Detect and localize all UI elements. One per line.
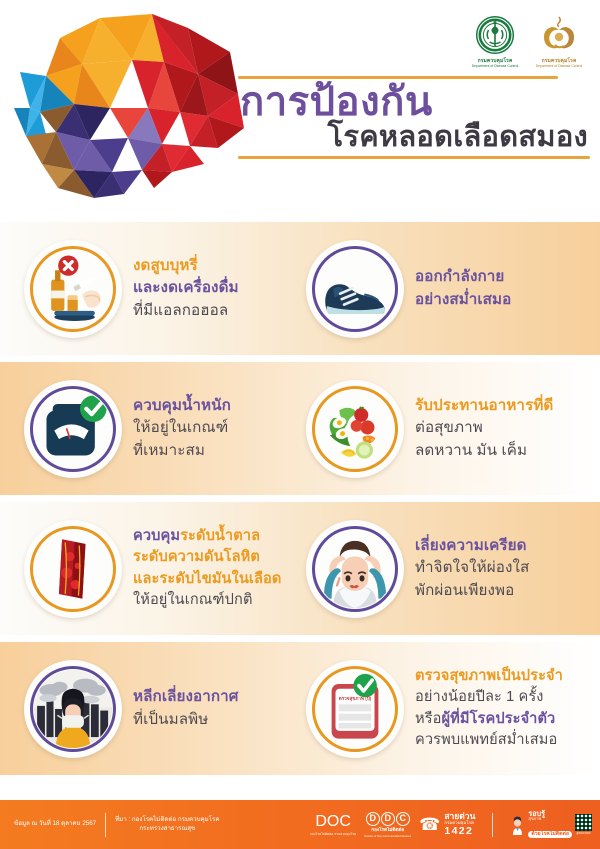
tip-text-line: ที่เป็นมลพิษ	[133, 709, 239, 731]
tip-badge	[24, 660, 122, 758]
page-title: การป้องกัน โรคหลอดเลือดสมอง	[238, 76, 590, 159]
ddc-caption-en: Division of Non Communicable Diseases	[364, 835, 411, 838]
hotline-text: สายด่วน กรมควบคุมโรค 1422	[444, 812, 475, 837]
tip-text-segment: อย่างน้อยปีละ 1 ครั้ง	[415, 689, 544, 705]
ddc-logo: กรมควบคุมโรค Department of Disease Contr…	[532, 12, 586, 69]
tip-text-segment: ทำจิตใจให้ผ่องใส	[415, 559, 529, 576]
tip-text-segment: ควบคุม	[133, 528, 180, 544]
tip-text: หลีกเลี่ยงอากาศที่เป็นมลพิษ	[122, 686, 243, 730]
tip-item[interactable]: ออกกำลังกายอย่างสม่ำเสมอ	[300, 240, 600, 338]
tip-text-segment: ที่มีแอลกอฮอล	[133, 302, 228, 319]
tip-text-line: และงดเครื่องดื่ม	[133, 277, 239, 299]
tip-badge-ring	[312, 526, 398, 612]
tip-text-segment: และงดเครื่องดื่ม	[133, 279, 239, 296]
tip-text-segment: ลดหวาน มัน เค็ม	[415, 442, 527, 459]
tip-badge-ring	[312, 246, 398, 332]
tip-text-line: ออกกำลังกาย	[415, 266, 511, 288]
ddc-footer-logo[interactable]: D D C กองโรคไม่ติดต่อ Division of Non Co…	[364, 812, 411, 838]
ddc-letter-0: D	[366, 812, 380, 826]
tip-text: ควบคุมระดับน้ำตาลระดับความดันโลหิตและระด…	[122, 526, 286, 611]
tip-text: ตรวจสุขภาพเป็นประจำอย่างน้อยปีละ 1 ครั้ง…	[404, 666, 567, 751]
tip-text-line: พักผ่อนเพียงพอ	[415, 580, 529, 602]
hotline-number: 1422	[444, 826, 475, 837]
tip-item[interactable]: เลี่ยงความเครียดทำจิตใจให้ผ่องใสพักผ่อนเ…	[300, 520, 600, 618]
tip-text-line: ที่เหมาะสม	[133, 440, 231, 462]
tip-text-segment: ออกกำลังกาย	[415, 268, 504, 285]
moph-logo: กรมควบคุมโรค Department of Disease Contr…	[468, 12, 522, 69]
tip-text-line: งดสูบบุหรี่	[133, 255, 239, 277]
tip-row: งดสูบบุหรี่และงดเครื่องดื่มที่มีแอลกอฮอล…	[0, 222, 600, 355]
source-line-1: ที่มา : กองโรคไม่ติดต่อ กรมควบคุมโรค	[115, 816, 219, 825]
tip-text-line: ลดหวาน มัน เค็ม	[415, 440, 553, 462]
tip-text-line: ต่อสุขภาพ	[415, 417, 553, 439]
tip-text-line: และระดับไขมันในเลือด	[133, 569, 282, 590]
doc-logo[interactable]: DOC กองโรคไม่ติดต่อ กรมควบคุมโรค	[310, 813, 356, 837]
tip-item[interactable]: ควบคุมน้ำหนักให้อยู่ในเกณฑ์ที่เหมาะสม	[0, 380, 300, 478]
tip-text-line: อย่างสม่ำเสมอ	[415, 289, 511, 311]
tip-text-segment: ที่เป็นมลพิษ	[133, 711, 208, 728]
hotline-block[interactable]: ☎ สายด่วน กรมควบคุมโรค 1422	[419, 812, 475, 837]
qr-code-icon	[575, 814, 592, 831]
tip-badge: ตรวจสุขภาพ (ปี)	[306, 660, 404, 758]
tip-text-line: ควรพบแพทย์สม่ำเสมอ	[415, 730, 563, 751]
tip-text-line: อย่างน้อยปีละ 1 ครั้ง	[415, 687, 563, 708]
tip-row: ควบคุมน้ำหนักให้อยู่ในเกณฑ์ที่เหมาะสม รั…	[0, 362, 600, 495]
tip-text-segment: ต่อสุขภาพ	[415, 419, 483, 436]
tip-text-segment: และระดับไขมันในเลือด	[133, 571, 282, 587]
row-separator	[0, 635, 600, 642]
tip-item[interactable]: ควบคุมระดับน้ำตาลระดับความดันโลหิตและระด…	[0, 520, 300, 618]
data-date: ข้อมูล ณ วันที่ 18 ตุลาคม 2567	[0, 820, 96, 828]
knowledge-sub: สุขภาพ	[528, 817, 572, 821]
doc-logo-sub: กองโรคไม่ติดต่อ กรมควบคุมโรค	[310, 832, 356, 837]
tip-text-line: รับประทานอาหารที่ดี	[415, 395, 553, 417]
tip-text-segment: ผู้ที่มีโรคประจำตัว	[442, 711, 556, 727]
qr-caption: @NCD DDC	[576, 832, 591, 835]
title-rule-bottom	[238, 156, 590, 159]
footer: ข้อมูล ณ วันที่ 18 ตุลาคม 2567 ที่มา : ก…	[0, 800, 600, 849]
footer-divider-2	[492, 813, 493, 837]
source-line-2: กระทรวงสาธารณสุข	[115, 825, 219, 834]
tip-text-segment: ควบคุมน้ำหนัก	[133, 397, 231, 414]
tip-text-line: หรือผู้ที่มีโรคประจำตัว	[415, 709, 563, 730]
tip-text: เลี่ยงความเครียดทำจิตใจให้ผ่องใสพักผ่อนเ…	[404, 535, 533, 601]
tips-list: งดสูบบุหรี่และงดเครื่องดื่มที่มีแอลกอฮอล…	[0, 222, 600, 775]
tip-text-segment: ควรพบแพทย์สม่ำเสมอ	[415, 732, 557, 748]
tip-text-segment: ตรวจสุขภาพเป็นประจำ	[415, 668, 563, 684]
footer-divider-1	[105, 813, 106, 837]
tip-badge-ring	[312, 666, 398, 752]
qr-block: @NCD DDC	[575, 814, 592, 835]
tip-text-line: ระดับความดันโลหิต	[133, 547, 282, 568]
tip-text-segment: ระดับความดันโลหิต	[133, 549, 260, 565]
tip-badge-ring	[312, 386, 398, 472]
phone-icon: ☎	[419, 816, 440, 833]
tip-badge	[306, 380, 404, 478]
nurse-icon	[510, 815, 525, 835]
tip-text-line: ตรวจสุขภาพเป็นประจำ	[415, 666, 563, 687]
ddc-logo-en: Department of Disease Control	[532, 64, 586, 68]
tip-item[interactable]: รับประทานอาหารที่ดีต่อสุขภาพลดหวาน มัน เ…	[300, 380, 600, 478]
row-separator	[0, 495, 600, 502]
tip-text-segment: ให้อยู่ในเกณฑ์ปกติ	[133, 592, 253, 608]
tip-item[interactable]: หลีกเลี่ยงอากาศที่เป็นมลพิษ	[0, 660, 300, 758]
tip-badge	[24, 380, 122, 478]
tip-text-segment: งดสูบบุหรี่	[133, 257, 198, 274]
ddc-letter-circles: D D C	[366, 812, 410, 826]
tip-text: งดสูบบุหรี่และงดเครื่องดื่มที่มีแอลกอฮอล	[122, 255, 243, 321]
org-logos: กรมควบคุมโรค Department of Disease Contr…	[468, 12, 586, 69]
moph-caduceus-emblem-icon	[468, 12, 522, 58]
tip-text-line: ควบคุมน้ำหนัก	[133, 395, 231, 417]
tip-row: หลีกเลี่ยงอากาศที่เป็นมลพิษ ตรวจสุขภาพ (…	[0, 642, 600, 775]
tip-badge	[24, 520, 122, 618]
row-separator	[0, 355, 600, 362]
tip-text-line: ทำจิตใจให้ผ่องใส	[415, 557, 529, 579]
knowledge-pill: ด้วยโรคไม่ติดต่อ	[528, 831, 572, 838]
title-rule-top	[238, 76, 558, 79]
title-line-1: การป้องกัน	[240, 81, 590, 123]
tip-text-segment: รับประทานอาหารที่ดี	[415, 397, 553, 414]
tip-text-segment: ที่เหมาะสม	[133, 442, 205, 459]
tip-text: รับประทานอาหารที่ดีต่อสุขภาพลดหวาน มัน เ…	[404, 395, 557, 461]
tip-item[interactable]: งดสูบบุหรี่และงดเครื่องดื่มที่มีแอลกอฮอล	[0, 240, 300, 338]
tip-text-line: ให้อยู่ในเกณฑ์ปกติ	[133, 590, 282, 611]
tip-text: ออกกำลังกายอย่างสม่ำเสมอ	[404, 266, 515, 310]
source-credit: ที่มา : กองโรคไม่ติดต่อ กรมควบคุมโรค กระ…	[115, 816, 219, 834]
tip-badge	[306, 240, 404, 338]
tip-text-segment: ให้อยู่ในเกณฑ์	[133, 419, 228, 436]
ddc-gold-emblem-icon	[532, 12, 586, 58]
tip-badge	[306, 520, 404, 618]
tip-badge-ring	[30, 526, 116, 612]
tip-badge-ring	[30, 386, 116, 472]
ddc-letter-1: D	[381, 812, 395, 826]
tip-badge-ring	[30, 666, 116, 752]
tip-badge-ring	[30, 246, 116, 332]
doc-logo-text: DOC	[315, 813, 351, 831]
tip-badge	[24, 240, 122, 338]
ddc-caption: กองโรคไม่ติดต่อ	[371, 827, 404, 834]
brain-icon	[12, 12, 252, 207]
header: กรมควบคุมโรค Department of Disease Contr…	[0, 0, 600, 220]
tip-text-segment: อย่างสม่ำเสมอ	[415, 291, 511, 308]
tip-text-segment: เลี่ยงความเครียด	[415, 537, 527, 554]
moph-logo-en: Department of Disease Control	[468, 64, 522, 68]
tip-item[interactable]: ตรวจสุขภาพ (ปี)ตรวจสุขภาพเป็นประจำอย่างน…	[300, 660, 600, 758]
knowledge-text: รอบรู้ สุขภาพ ด้วยโรคไม่ติดต่อ	[528, 810, 572, 840]
tip-text-line: ที่มีแอลกอฮอล	[133, 300, 239, 322]
tip-row: ควบคุมระดับน้ำตาลระดับความดันโลหิตและระด…	[0, 502, 600, 635]
tip-text-line: ควบคุมระดับน้ำตาล	[133, 526, 282, 547]
tip-text-line: เลี่ยงความเครียด	[415, 535, 529, 557]
footer-brand-group: DOC กองโรคไม่ติดต่อ กรมควบคุมโรค D D C ก…	[310, 810, 600, 840]
tip-text: ควบคุมน้ำหนักให้อยู่ในเกณฑ์ที่เหมาะสม	[122, 395, 235, 461]
tip-text-segment: พักผ่อนเพียงพอ	[415, 582, 514, 599]
knowledge-promo[interactable]: รอบรู้ สุขภาพ ด้วยโรคไม่ติดต่อ @NCD DDC	[510, 810, 592, 840]
tip-text-line: ให้อยู่ในเกณฑ์	[133, 417, 231, 439]
tip-text-line: หลีกเลี่ยงอากาศ	[133, 686, 239, 708]
ddc-letter-2: C	[396, 812, 410, 826]
tip-text-segment: หลีกเลี่ยงอากาศ	[133, 688, 239, 705]
tip-text-segment: ระดับน้ำตาล	[180, 528, 260, 544]
tip-text-segment: หรือ	[415, 711, 442, 727]
title-line-2: โรคหลอดเลือดสมอง	[238, 121, 590, 153]
